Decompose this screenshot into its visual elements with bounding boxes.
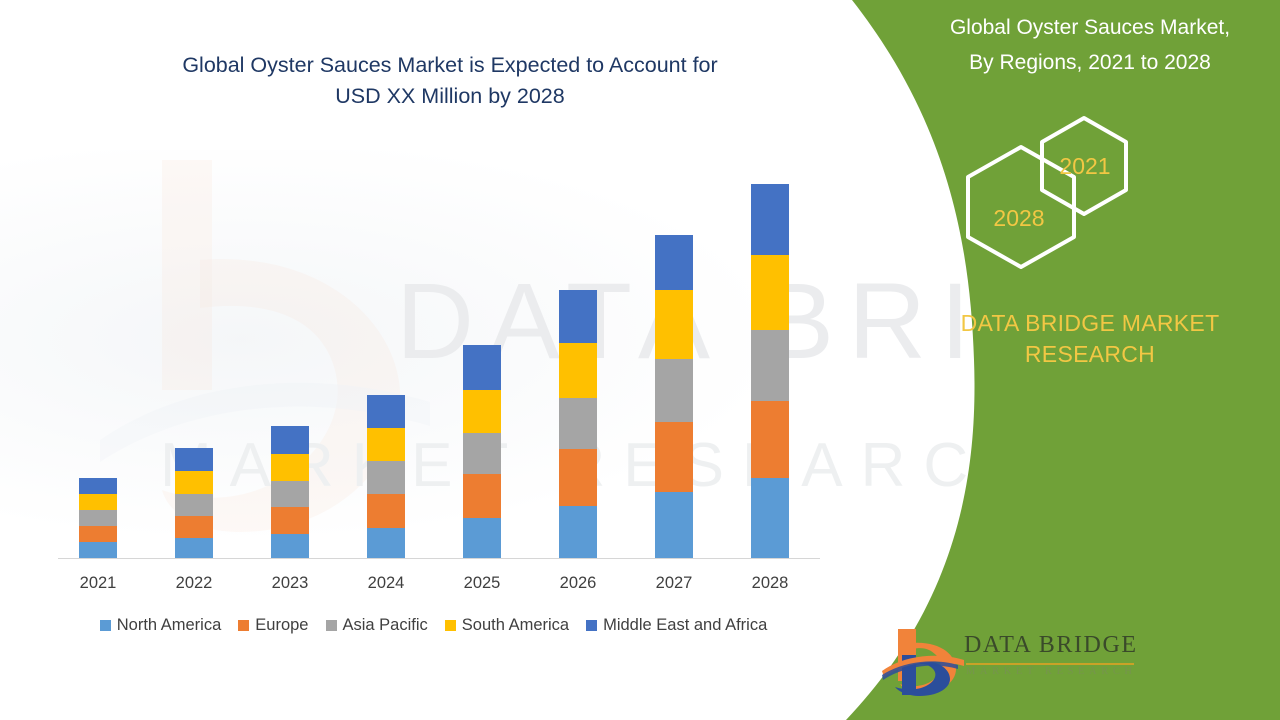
- brand-name-line-2: RESEARCH: [920, 339, 1260, 370]
- bar-segment: [79, 526, 117, 542]
- x-axis-line: [58, 558, 820, 559]
- x-axis-label-2023: 2023: [250, 574, 330, 593]
- company-logo: DATA BRIDGE MARKET RESEARCH: [882, 625, 1142, 703]
- legend-item[interactable]: Europe: [238, 616, 308, 635]
- bar-segment: [559, 343, 597, 398]
- bar-segment: [655, 422, 693, 492]
- panel-heading: Global Oyster Sauces Market, By Regions,…: [900, 10, 1280, 80]
- logo-divider: [966, 663, 1134, 665]
- bar-segment: [271, 426, 309, 454]
- chart-legend: North AmericaEuropeAsia PacificSouth Ame…: [52, 616, 832, 635]
- legend-item[interactable]: South America: [445, 616, 569, 635]
- stacked-bar-chart: 20212022202320242025202620272028: [0, 0, 860, 600]
- x-axis-label-2028: 2028: [730, 574, 810, 593]
- bar-segment: [271, 454, 309, 481]
- legend-item[interactable]: Middle East and Africa: [586, 616, 767, 635]
- bar-segment: [175, 516, 213, 538]
- bar-segment: [751, 401, 789, 478]
- bar-segment: [751, 255, 789, 330]
- bar-segment: [175, 448, 213, 471]
- logo-tagline: MARKET RESEARCH: [966, 666, 1137, 677]
- legend-swatch-icon: [445, 620, 456, 631]
- hexagon-label-2028: 2028: [984, 205, 1054, 232]
- x-axis-label-2025: 2025: [442, 574, 522, 593]
- bar-segment: [463, 518, 501, 558]
- bar-segment: [79, 510, 117, 526]
- bar-column: [271, 426, 309, 558]
- bar-segment: [367, 428, 405, 461]
- bar-segment: [463, 345, 501, 390]
- legend-item[interactable]: North America: [100, 616, 222, 635]
- bar-column: [655, 235, 693, 558]
- bar-segment: [79, 494, 117, 510]
- bar-segment: [175, 494, 213, 516]
- bar-segment: [79, 542, 117, 558]
- legend-item[interactable]: Asia Pacific: [326, 616, 428, 635]
- bar-segment: [655, 359, 693, 422]
- bar-column: [751, 184, 789, 558]
- bar-segment: [655, 290, 693, 359]
- bar-segment: [751, 330, 789, 401]
- bar-segment: [463, 474, 501, 518]
- bar-segment: [175, 538, 213, 558]
- bar-segment: [463, 390, 501, 433]
- bar-column: [367, 395, 405, 558]
- brand-name: DATA BRIDGE MARKET RESEARCH: [920, 308, 1260, 370]
- x-axis-label-2021: 2021: [58, 574, 138, 593]
- bar-segment: [463, 433, 501, 474]
- hexagon-group: 2021 2028: [900, 115, 1280, 290]
- bar-segment: [79, 478, 117, 494]
- bar-segment: [751, 184, 789, 255]
- x-axis-label-2027: 2027: [634, 574, 714, 593]
- panel-heading-line-2: By Regions, 2021 to 2028: [900, 45, 1280, 80]
- legend-swatch-icon: [586, 620, 597, 631]
- bar-segment: [559, 449, 597, 506]
- legend-swatch-icon: [100, 620, 111, 631]
- bar-segment: [559, 506, 597, 558]
- bar-column: [559, 290, 597, 558]
- x-axis-label-2024: 2024: [346, 574, 426, 593]
- bar-segment: [367, 528, 405, 558]
- bar-segment: [175, 471, 213, 494]
- bar-segment: [271, 481, 309, 507]
- bar-segment: [559, 290, 597, 343]
- bar-column: [79, 478, 117, 558]
- brand-name-line-1: DATA BRIDGE MARKET: [920, 308, 1260, 339]
- bar-segment: [367, 494, 405, 528]
- x-axis-label-2026: 2026: [538, 574, 618, 593]
- legend-label: South America: [462, 616, 569, 635]
- slide-canvas: DATA BRIDGE MARKET RESEARCH Global Oyste…: [0, 0, 1280, 720]
- hexagon-outlines-icon: [900, 115, 1280, 290]
- bar-segment: [271, 534, 309, 558]
- bar-segment: [367, 461, 405, 494]
- bar-segment: [367, 395, 405, 428]
- x-axis-label-2022: 2022: [154, 574, 234, 593]
- panel-heading-line-1: Global Oyster Sauces Market,: [900, 10, 1280, 45]
- bar-column: [175, 448, 213, 558]
- legend-label: Europe: [255, 616, 308, 635]
- bar-segment: [559, 398, 597, 449]
- panel-content: Global Oyster Sauces Market, By Regions,…: [900, 0, 1280, 720]
- bar-segment: [655, 492, 693, 558]
- legend-label: Middle East and Africa: [603, 616, 767, 635]
- bar-segment: [751, 478, 789, 558]
- bar-column: [463, 345, 501, 558]
- data-bridge-b-mark-icon: [882, 625, 964, 697]
- legend-swatch-icon: [238, 620, 249, 631]
- bar-segment: [655, 235, 693, 290]
- legend-label: North America: [117, 616, 222, 635]
- hexagon-label-2021: 2021: [1050, 153, 1120, 180]
- bar-segment: [271, 507, 309, 534]
- legend-swatch-icon: [326, 620, 337, 631]
- legend-label: Asia Pacific: [343, 616, 428, 635]
- logo-wordmark: DATA BRIDGE: [964, 632, 1138, 659]
